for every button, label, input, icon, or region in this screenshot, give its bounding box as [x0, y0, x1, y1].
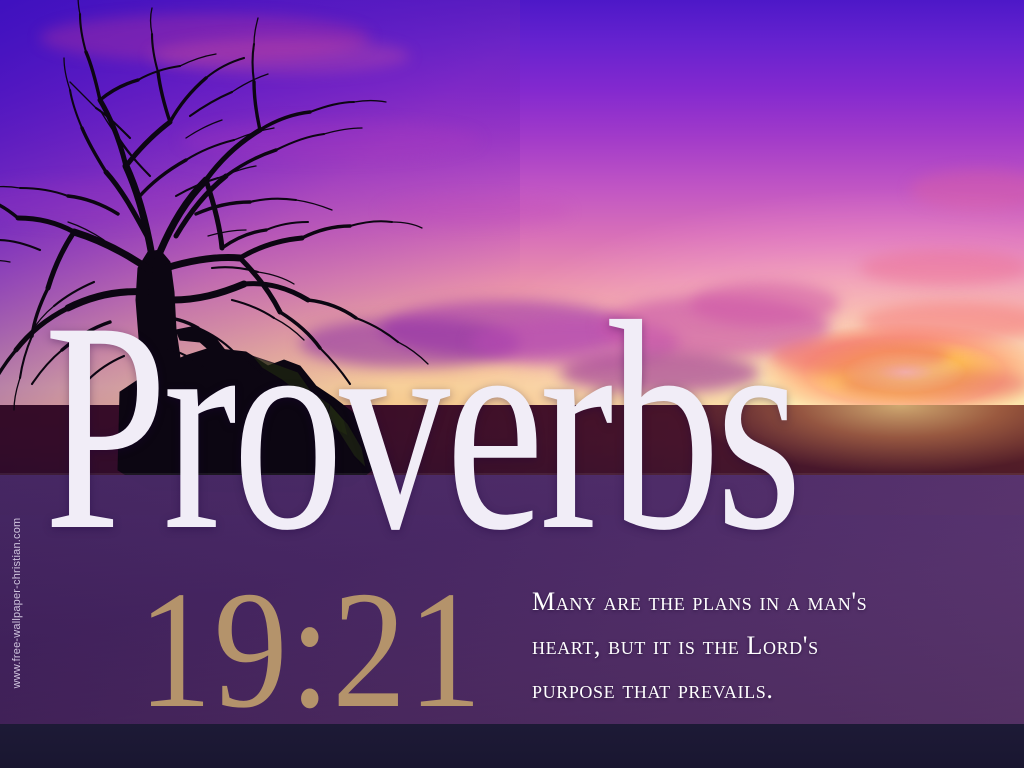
verse-reference: 19:21	[138, 566, 484, 734]
cloud-bank	[840, 368, 1024, 400]
cloud-wisp	[380, 196, 570, 226]
cloud-bank	[860, 250, 1024, 286]
verse-line-1: Many are the plans in a man's	[532, 580, 952, 624]
verse-text: Many are the plans in a man's heart, but…	[532, 580, 952, 712]
wallpaper-canvas: Proverbs 19:21 Many are the plans in a m…	[0, 0, 1024, 768]
page-title: Proverbs	[44, 276, 798, 576]
cloud-wisp	[150, 38, 410, 74]
bottom-bar	[0, 724, 1024, 768]
watermark: www.free-wallpaper-christian.com	[11, 503, 23, 703]
cloud-wisp	[180, 120, 480, 160]
verse-line-3: purpose that prevails.	[532, 668, 952, 712]
verse-line-2: heart, but it is the Lord's	[532, 624, 952, 668]
